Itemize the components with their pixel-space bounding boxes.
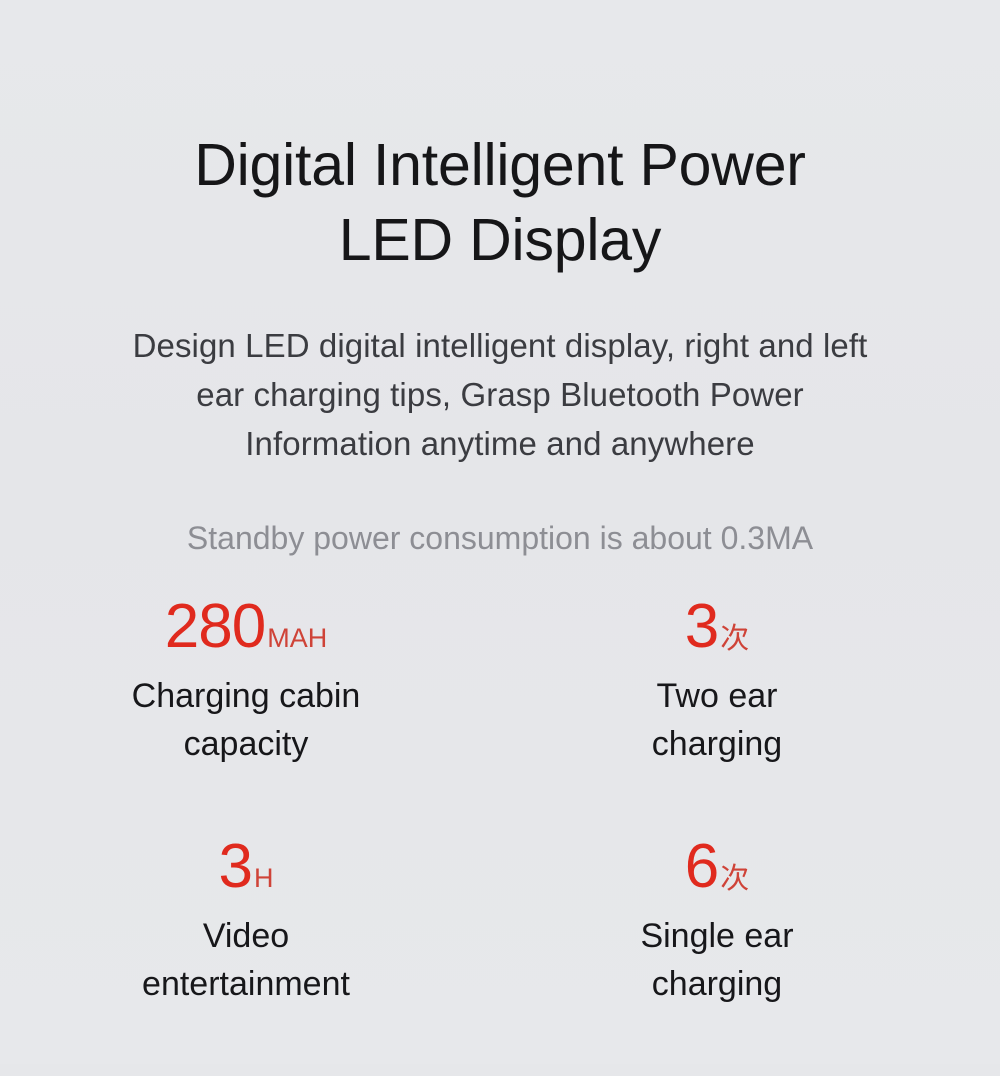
stat-label: Single ear charging (640, 912, 793, 1008)
stat-label-line-2: entertainment (142, 960, 350, 1008)
stat-label-line-2: charging (640, 960, 793, 1008)
stat-value-group: 6 次 (685, 836, 750, 898)
description-line-1: Design LED digital intelligent display, … (0, 321, 1000, 370)
stat-number: 6 (685, 836, 718, 898)
stat-label-line-2: capacity (132, 720, 361, 768)
stat-label-line-1: Two ear (652, 672, 782, 720)
stat-item-single-ear-charging: 6 次 Single ear charging (500, 836, 940, 1076)
stat-label: Two ear charging (652, 672, 782, 768)
stat-label-line-2: charging (652, 720, 782, 768)
stat-unit: MAH (267, 625, 327, 652)
description-paragraph: Design LED digital intelligent display, … (0, 321, 1000, 468)
product-feature-page: Digital Intelligent Power LED Display De… (0, 0, 1000, 1064)
page-title-line-2: LED Display (0, 203, 1000, 278)
stat-item-two-ear-charging: 3 次 Two ear charging (500, 596, 940, 836)
stat-value-group: 3 次 (685, 596, 750, 658)
stat-label-line-1: Charging cabin (132, 672, 361, 720)
page-title-line-1: Digital Intelligent Power (0, 128, 1000, 203)
stat-number: 3 (685, 596, 718, 658)
spec-stats-grid: 280 MAH Charging cabin capacity 3 次 Two … (60, 596, 940, 1076)
description-line-2: ear charging tips, Grasp Bluetooth Power (0, 370, 1000, 419)
stat-item-charging-cabin-capacity: 280 MAH Charging cabin capacity (60, 596, 500, 836)
stat-unit: 次 (720, 624, 749, 653)
page-title: Digital Intelligent Power LED Display (0, 128, 1000, 278)
stat-unit: H (254, 865, 274, 892)
stat-value-group: 280 MAH (165, 596, 327, 658)
stat-label: Video entertainment (142, 912, 350, 1008)
stat-number: 3 (219, 836, 252, 898)
description-line-3: Information anytime and anywhere (0, 419, 1000, 468)
stat-unit: 次 (720, 864, 749, 893)
stat-label-line-1: Single ear (640, 912, 793, 960)
stat-number: 280 (165, 596, 265, 658)
stat-label-line-1: Video (142, 912, 350, 960)
stat-item-video-entertainment: 3 H Video entertainment (60, 836, 500, 1076)
stat-value-group: 3 H (219, 836, 274, 898)
stat-label: Charging cabin capacity (132, 672, 361, 768)
standby-power-note: Standby power consumption is about 0.3MA (0, 516, 1000, 560)
